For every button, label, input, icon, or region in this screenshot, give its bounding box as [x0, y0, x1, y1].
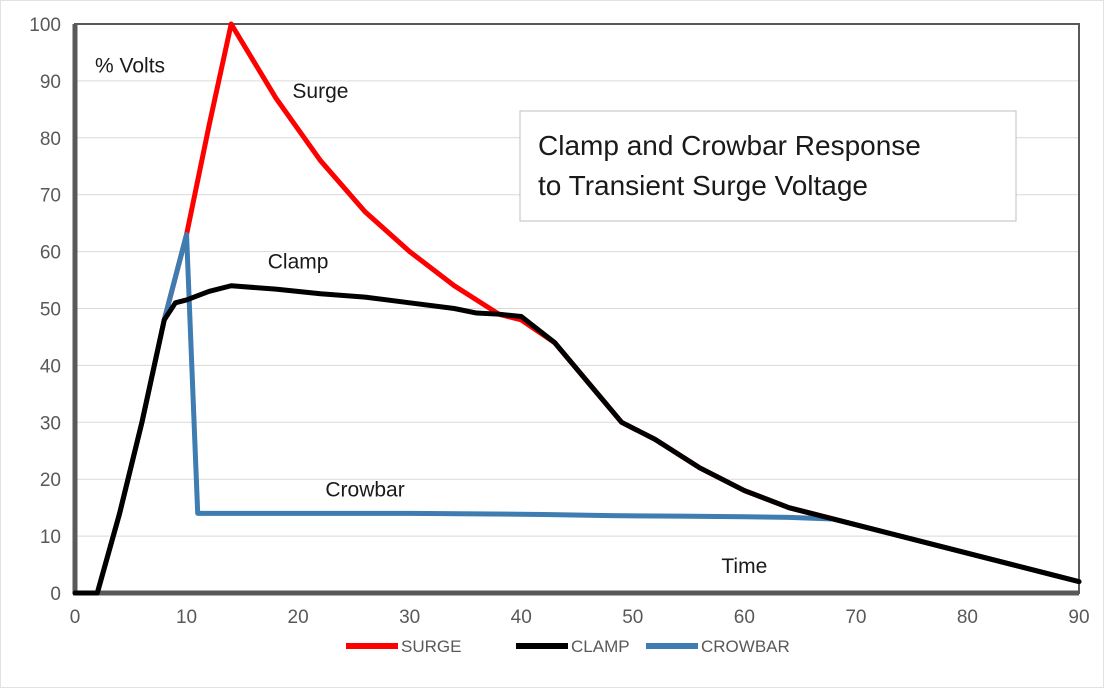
x-tick-label: 50 — [622, 607, 643, 628]
y-tick-label: 60 — [40, 243, 61, 264]
annotation-clamp: Clamp — [268, 251, 329, 274]
y-tick-label: 0 — [50, 584, 61, 605]
x-tick-label: 60 — [734, 607, 755, 628]
y-tick-label: 90 — [40, 72, 61, 93]
legend-label-clamp[interactable]: CLAMP — [571, 637, 630, 656]
annotation-surge: Surge — [292, 80, 348, 103]
x-tick-label: 40 — [511, 607, 532, 628]
x-tick-label: 10 — [176, 607, 197, 628]
x-axis-title: Time — [721, 555, 767, 578]
x-tick-label: 30 — [399, 607, 420, 628]
y-tick-label: 70 — [40, 186, 61, 207]
x-tick-label: 0 — [70, 607, 81, 628]
y-tick-label: 80 — [40, 129, 61, 150]
legend-label-crowbar[interactable]: CROWBAR — [701, 637, 790, 656]
line-chart: 0102030405060708090100 01020304050607080… — [1, 1, 1104, 689]
y-tick-label: 40 — [40, 356, 61, 377]
y-tick-label: 100 — [29, 15, 61, 36]
y-tick-label: 10 — [40, 527, 61, 548]
chart-legend[interactable]: SURGECLAMPCROWBAR — [346, 637, 790, 656]
x-tick-label: 70 — [845, 607, 866, 628]
x-tick-label: 80 — [957, 607, 978, 628]
annotation-crowbar: Crowbar — [325, 478, 404, 501]
y-axis-tick-labels: 0102030405060708090100 — [29, 15, 61, 605]
y-axis-title: % Volts — [95, 54, 165, 77]
chart-title-box: Clamp and Crowbar Responseto Transient S… — [520, 111, 1016, 221]
y-tick-label: 20 — [40, 470, 61, 491]
y-tick-label: 50 — [40, 300, 61, 321]
x-axis-tick-labels: 0102030405060708090 — [70, 607, 1090, 628]
x-tick-label: 20 — [288, 607, 309, 628]
x-tick-label: 90 — [1068, 607, 1089, 628]
series-line-clamp — [75, 286, 1079, 593]
title-box-bg — [520, 111, 1016, 221]
chart-container: 0102030405060708090100 01020304050607080… — [0, 0, 1104, 688]
chart-title-line-2: to Transient Surge Voltage — [538, 170, 868, 201]
y-tick-label: 30 — [40, 413, 61, 434]
chart-title-line-1: Clamp and Crowbar Response — [538, 130, 921, 161]
legend-label-surge[interactable]: SURGE — [401, 637, 461, 656]
grid-lines — [75, 24, 1079, 536]
